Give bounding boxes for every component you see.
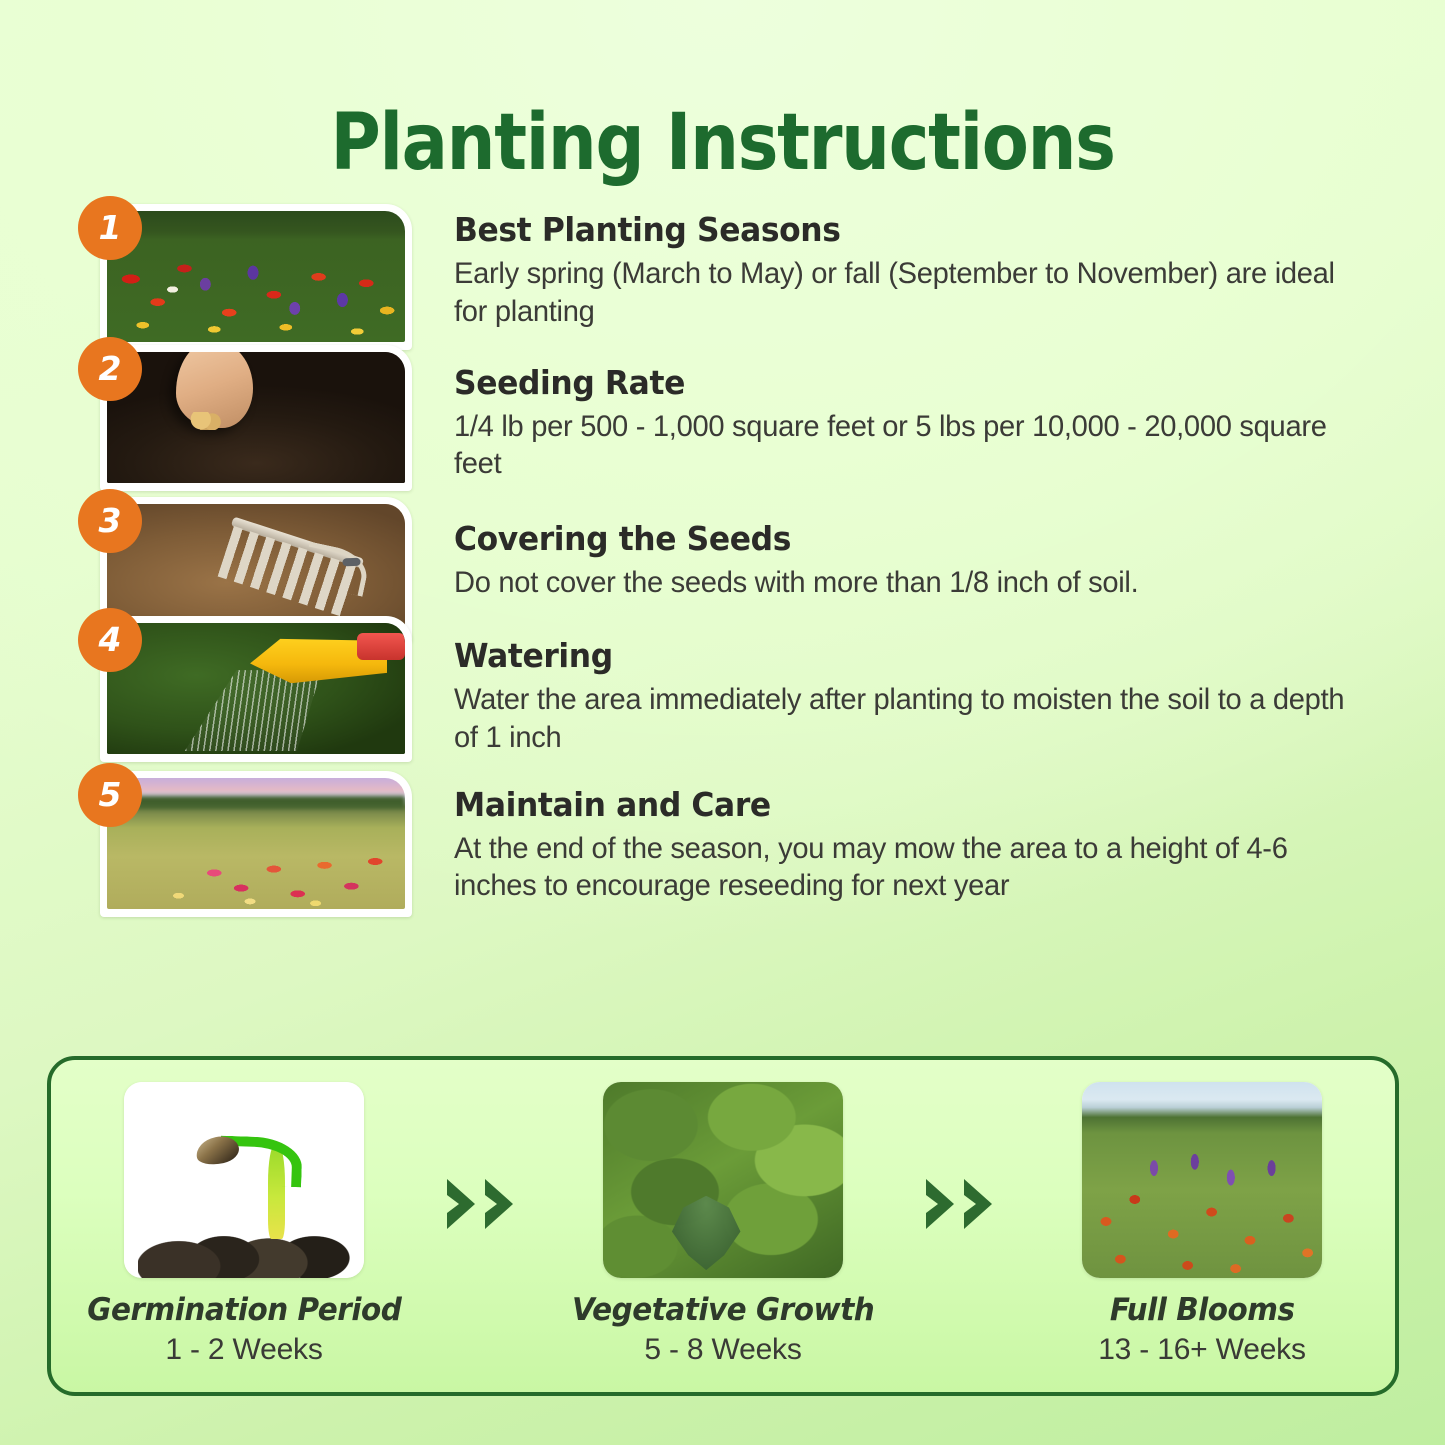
step-2-text: Seeding Rate 1/4 lb per 500 - 1,000 squa… (418, 337, 1378, 484)
blooms-image (1082, 1082, 1322, 1278)
vegetative-label: Vegetative Growth (572, 1292, 874, 1328)
step-4-body: Water the area immediately after plantin… (454, 681, 1350, 757)
step-item-4: 4 Watering Water the area immediately af… (78, 608, 1378, 757)
foliage-leaf (665, 1196, 747, 1270)
step-4-text: Watering Water the area immediately afte… (418, 608, 1378, 757)
timeline-arrow-1 (409, 1082, 558, 1374)
double-chevron-right-icon (441, 1173, 527, 1235)
step-item-3: 3 Covering the Seeds Do not cover the se… (78, 489, 1378, 602)
wildflower-field-dusk-photo (107, 778, 405, 909)
step-5-title: Maintain and Care (454, 785, 1332, 824)
water-stream (184, 670, 321, 751)
step-2-thumbnail-frame (100, 345, 412, 491)
hand-sowing-seeds-photo (107, 352, 405, 483)
green-foliage-photo (603, 1082, 843, 1278)
step-5-image (107, 778, 405, 909)
sprouting-seed-photo (124, 1082, 364, 1278)
step-5-body: At the end of the season, you may mow th… (454, 830, 1350, 906)
step-3-number-badge: 3 (78, 489, 142, 553)
double-chevron-right-icon (920, 1173, 1006, 1235)
germination-label: Germination Period (87, 1292, 401, 1328)
wildflower-meadow-photo (107, 211, 405, 342)
blooms-duration: 13 - 16+ Weeks (1098, 1333, 1306, 1367)
soil-clumps (138, 1219, 364, 1278)
step-item-5: 5 Maintain and Care At the end of the se… (78, 763, 1378, 906)
step-4-image (107, 623, 405, 754)
watering-can-neck (357, 633, 405, 659)
step-1-text: Best Planting Seasons Early spring (Marc… (418, 196, 1378, 331)
vegetative-duration: 5 - 8 Weeks (644, 1333, 801, 1367)
steps-list: 1 Best Planting Seasons Early spring (Ma… (78, 196, 1378, 911)
growth-timeline-panel: Germination Period 1 - 2 Weeks Vegetativ… (47, 1056, 1399, 1396)
rake-grip (342, 557, 360, 566)
watering-can-photo (107, 623, 405, 754)
step-4-number-badge: 4 (78, 608, 142, 672)
step-1-image (107, 211, 405, 342)
step-2-title: Seeding Rate (454, 363, 1332, 402)
timeline-stage-germination: Germination Period 1 - 2 Weeks (79, 1082, 409, 1374)
step-2-body: 1/4 lb per 500 - 1,000 square feet or 5 … (454, 408, 1350, 484)
step-1-body: Early spring (March to May) or fall (Sep… (454, 255, 1350, 331)
step-5-number-badge: 5 (78, 763, 142, 827)
step-item-2: 2 Seeding Rate 1/4 lb per 500 - 1,000 sq… (78, 337, 1378, 484)
timeline-stage-vegetative: Vegetative Growth 5 - 8 Weeks (558, 1082, 888, 1374)
timeline-arrow-2 (888, 1082, 1037, 1374)
step-5-text: Maintain and Care At the end of the seas… (418, 763, 1378, 906)
page-title: Planting Instructions (330, 104, 1114, 182)
blooms-label: Full Blooms (1110, 1292, 1295, 1328)
step-2-number-badge: 2 (78, 337, 142, 401)
step-3-body: Do not cover the seeds with more than 1/… (454, 564, 1350, 602)
step-4-thumbnail-frame (100, 616, 412, 762)
step-1-title: Best Planting Seasons (454, 210, 1332, 249)
step-4-title: Watering (454, 636, 1332, 675)
step-item-1: 1 Best Planting Seasons Early spring (Ma… (78, 196, 1378, 331)
germination-image (124, 1082, 364, 1278)
timeline-stage-blooms: Full Blooms 13 - 16+ Weeks (1037, 1082, 1367, 1374)
step-2-image (107, 352, 405, 483)
step-5-thumbnail-frame (100, 771, 412, 917)
blooming-wildflower-field-photo (1082, 1082, 1322, 1278)
step-3-text: Covering the Seeds Do not cover the seed… (418, 489, 1378, 602)
step-1-thumbnail-frame (100, 204, 412, 350)
vegetative-image (603, 1082, 843, 1278)
germination-duration: 1 - 2 Weeks (165, 1333, 322, 1367)
planting-instructions-infographic: Planting Instructions 1 Best Planting Se… (0, 0, 1445, 1445)
step-1-number-badge: 1 (78, 196, 142, 260)
step-3-title: Covering the Seeds (454, 519, 1332, 558)
